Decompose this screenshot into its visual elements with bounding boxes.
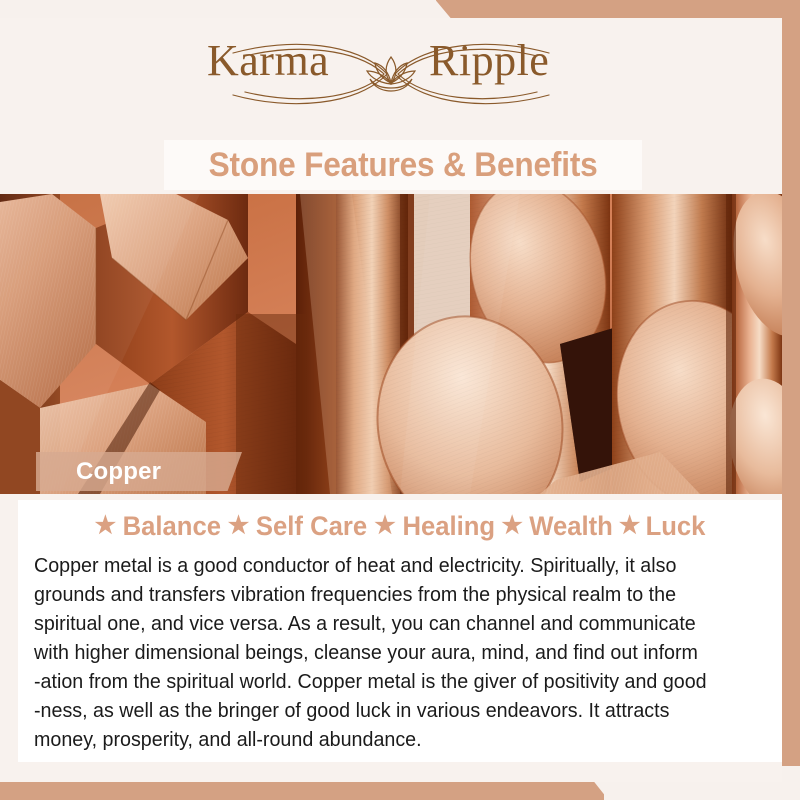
logo-text-karma: Karma: [207, 39, 329, 83]
benefits-list: ★ Balance ★ Self Care ★ Healing ★ Wealth…: [18, 500, 782, 548]
benefit-luck: Luck: [646, 511, 706, 542]
stone-name-label: Copper: [76, 458, 161, 486]
description-line: spiritual one, and vice versa. As a resu…: [34, 610, 740, 639]
page-title: Stone Features & Benefits: [209, 146, 598, 185]
benefit-balance: Balance: [123, 511, 221, 542]
star-icon-2: ★: [228, 514, 250, 538]
description-line: -ation from the spiritual world. Copper …: [34, 668, 740, 697]
description-line: Copper metal is a good conductor of heat…: [34, 552, 740, 581]
benefit-wealth: Wealth: [529, 511, 613, 542]
star-icon-4: ★: [501, 514, 523, 538]
description-line: money, prosperity, and all-round abundan…: [34, 726, 740, 755]
copper-bars-illustration: [0, 194, 782, 494]
description-line: grounds and transfers vibration frequenc…: [34, 581, 740, 610]
copper-bars-photo: [0, 194, 782, 494]
description-line: with higher dimensional beings, cleanse …: [34, 639, 740, 668]
lotus-icon: [367, 57, 415, 91]
star-icon-1: ★: [95, 514, 117, 538]
benefit-healing: Healing: [402, 511, 495, 542]
logo-wrap: Karma Ripple: [181, 31, 601, 117]
page-title-band: Stone Features & Benefits: [164, 140, 642, 190]
stone-description: Copper metal is a good conductor of heat…: [18, 548, 782, 755]
star-icon-5: ★: [619, 514, 641, 538]
star-icon-3: ★: [374, 514, 396, 538]
status-badge-stone-name: Copper: [36, 452, 242, 491]
description-line: -ness, as well as the bringer of good lu…: [34, 697, 740, 726]
brand-logo: Karma Ripple: [0, 18, 782, 130]
logo-text-ripple: Ripple: [429, 39, 549, 83]
stone-details-panel: ★ Balance ★ Self Care ★ Healing ★ Wealth…: [18, 500, 782, 762]
benefit-self-care: Self Care: [256, 511, 367, 542]
